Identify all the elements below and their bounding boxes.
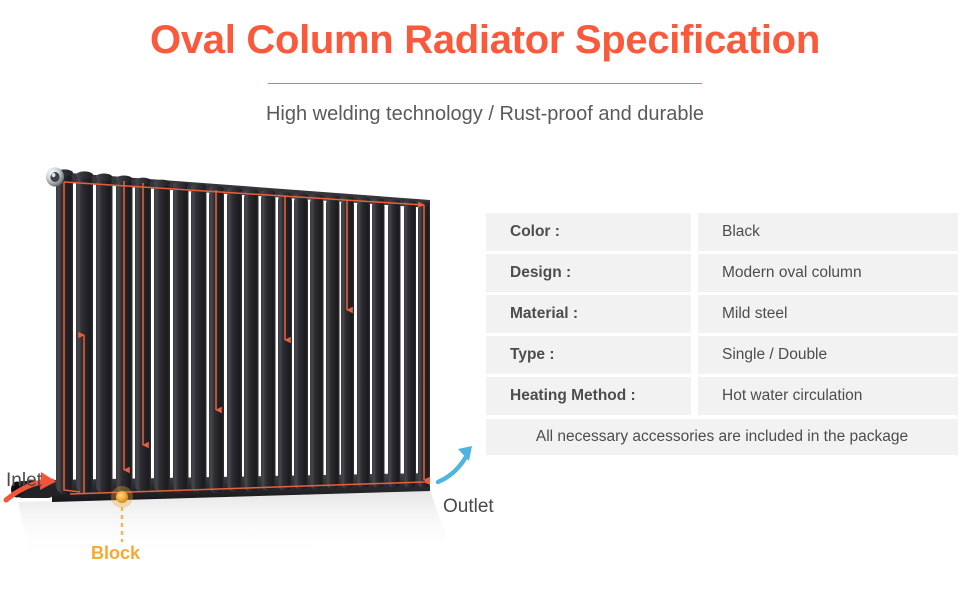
outlet-label: Outlet (443, 496, 494, 518)
spec-key-material: Material : (486, 295, 691, 333)
table-row: Design : Modern oval column (486, 254, 958, 292)
block-label: Block (91, 542, 140, 564)
specification-page: Oval Column Radiator Specification High … (0, 0, 970, 600)
radiator-diagram: Inlet Outlet Block (0, 150, 475, 600)
page-subtitle: High welding technology / Rust-proof and… (0, 100, 970, 128)
radiator-body (11, 167, 430, 502)
table-row: Color : Black (486, 213, 958, 251)
specification-table: Color : Black Design : Modern oval colum… (486, 213, 958, 455)
valve-chrome-icon (46, 167, 64, 186)
spec-value-color: Black (698, 213, 958, 251)
spec-key-type: Type : (486, 336, 691, 374)
table-row: Type : Single / Double (486, 336, 958, 374)
accessories-note: All necessary accessories are included i… (486, 419, 958, 455)
spec-value-type: Single / Double (698, 336, 958, 374)
outlet-arrow-icon (438, 446, 472, 482)
spec-value-material: Mild steel (698, 295, 958, 333)
title-divider (268, 83, 702, 84)
page-title: Oval Column Radiator Specification (0, 16, 970, 64)
inlet-label: Inlet (6, 470, 42, 492)
spec-value-heating-method: Hot water circulation (698, 377, 958, 415)
spec-key-design: Design : (486, 254, 691, 292)
table-row: Heating Method : Hot water circulation (486, 377, 958, 415)
spec-key-color: Color : (486, 213, 691, 251)
page-header: Oval Column Radiator Specification High … (0, 0, 970, 145)
spec-value-design: Modern oval column (698, 254, 958, 292)
spec-key-heating-method: Heating Method : (486, 377, 691, 415)
table-row: Material : Mild steel (486, 295, 958, 333)
radiator-columns (56, 169, 430, 494)
